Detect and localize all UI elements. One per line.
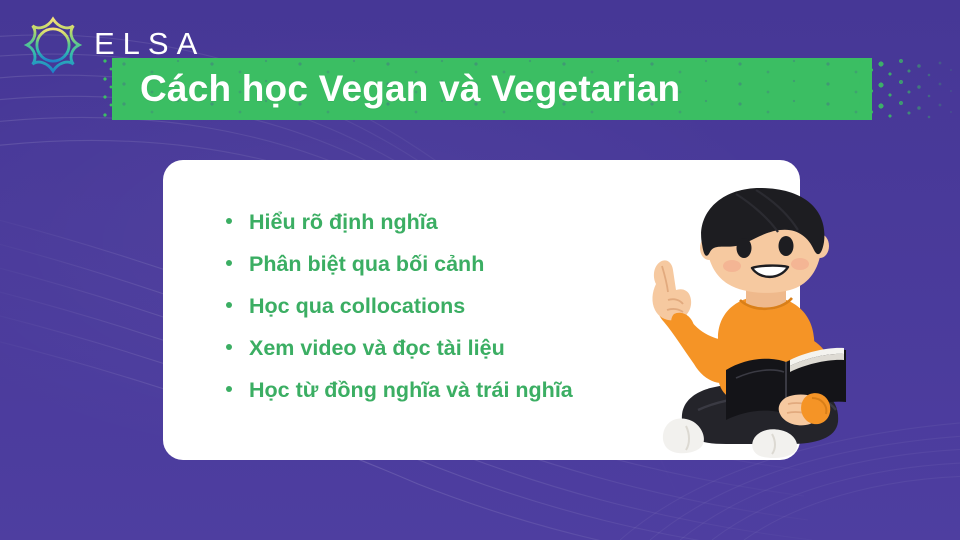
list-item: Hiểu rõ định nghĩa — [226, 210, 573, 252]
bullet-dot-icon — [226, 302, 232, 308]
right-eye — [779, 236, 794, 256]
list-item-label: Học qua collocations — [249, 294, 465, 319]
list-item: Xem video và đọc tài liệu — [226, 336, 573, 378]
boy-reading-book-illustration — [640, 188, 870, 460]
list-item-label: Hiểu rõ định nghĩa — [249, 210, 438, 235]
bullet-dot-icon — [226, 386, 232, 392]
brand-logo: ELSA — [22, 14, 222, 76]
slide: ELSA Cách học Vegan và Vegetarian Hiểu r… — [0, 0, 960, 540]
left-hand — [652, 260, 691, 320]
list-item: Học qua collocations — [226, 294, 573, 336]
title-banner: Cách học Vegan và Vegetarian — [112, 58, 902, 120]
bullet-dot-icon — [226, 218, 232, 224]
bullet-dot-icon — [226, 260, 232, 266]
list-item-label: Học từ đồng nghĩa và trái nghĩa — [249, 378, 573, 403]
list-item: Học từ đồng nghĩa và trái nghĩa — [226, 378, 573, 420]
elsa-star-logo-icon — [22, 14, 84, 76]
right-blush — [791, 258, 809, 270]
left-blush — [723, 260, 741, 272]
bullet-dot-icon — [226, 344, 232, 350]
banner-right-brush-edge — [857, 58, 960, 120]
list-item-label: Xem video và đọc tài liệu — [249, 336, 505, 361]
left-eye — [737, 238, 752, 258]
brand-wordmark: ELSA — [94, 28, 205, 62]
bullet-list: Hiểu rõ định nghĩa Phân biệt qua bối cản… — [226, 210, 573, 420]
list-item-label: Phân biệt qua bối cảnh — [249, 252, 484, 277]
list-item: Phân biệt qua bối cảnh — [226, 252, 573, 294]
